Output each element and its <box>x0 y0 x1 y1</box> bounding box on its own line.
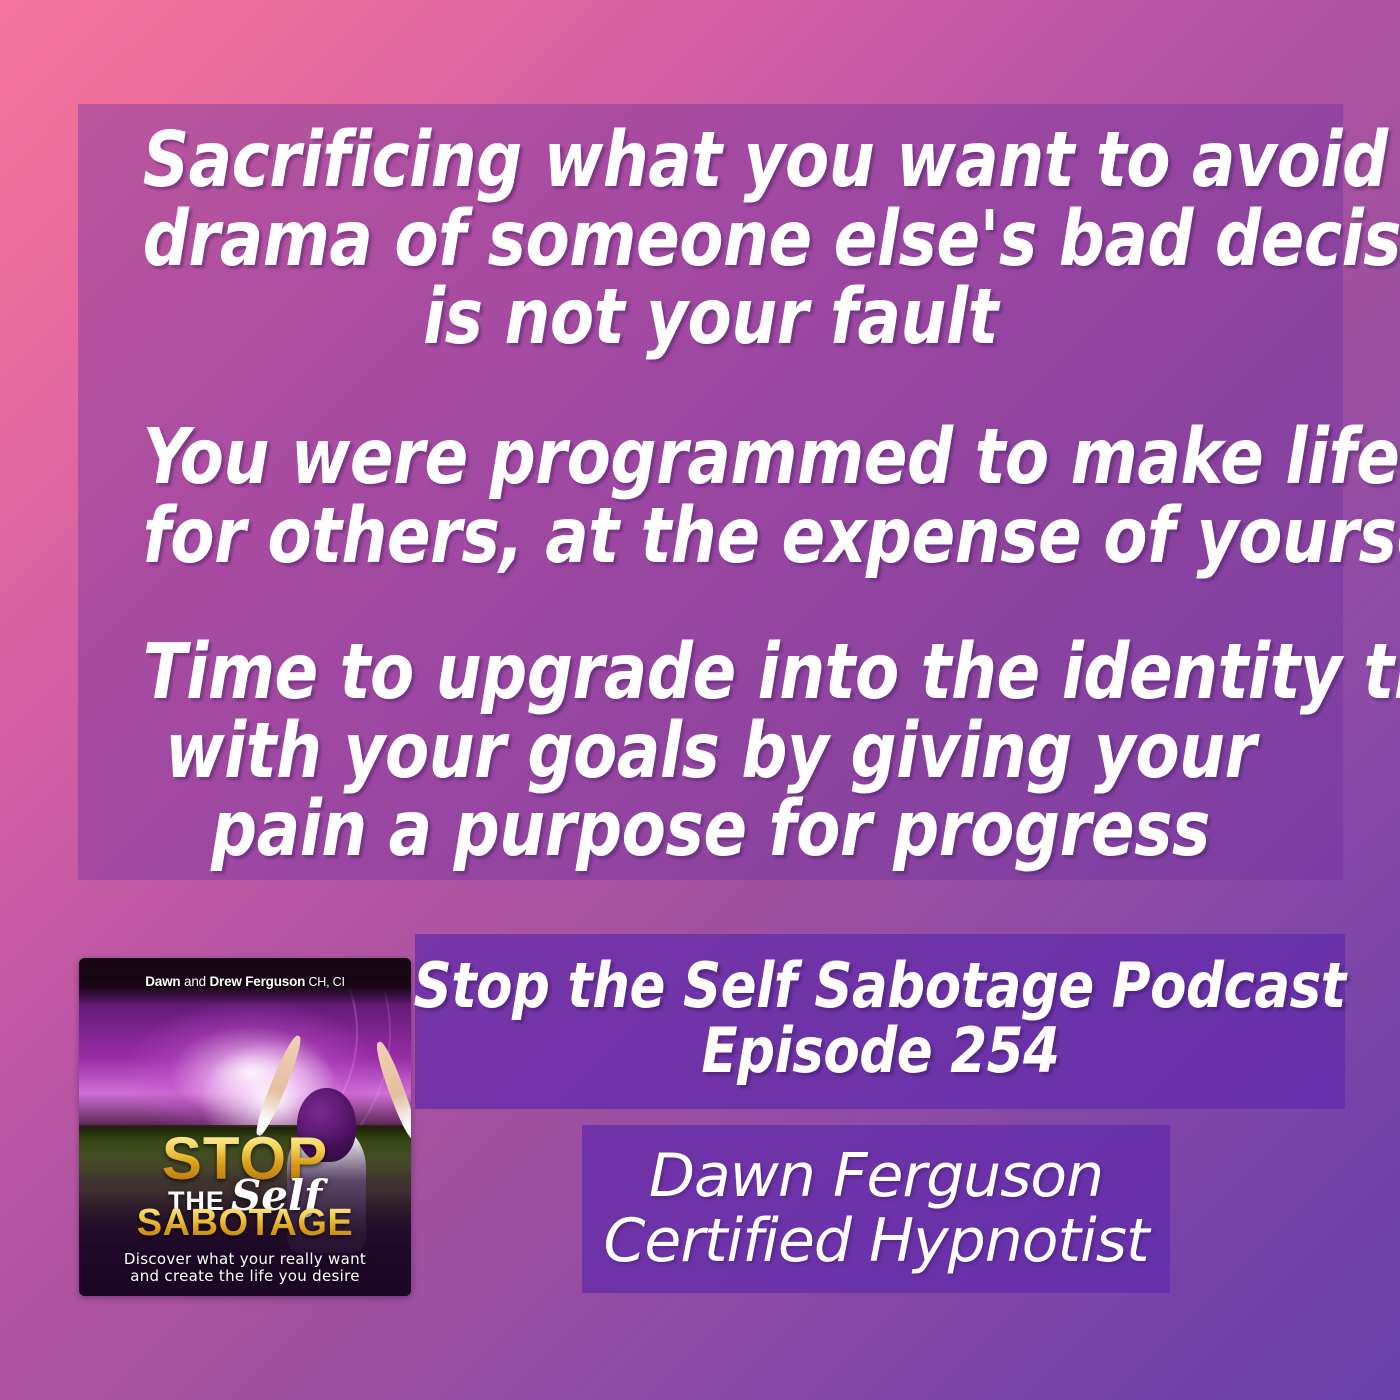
cover-host-name-2: Drew Ferguson <box>210 974 306 989</box>
cover-title-sabotage: SABOTAGE <box>89 1202 401 1245</box>
quote-stanza-2: You were programmed to make life easier … <box>100 419 1321 576</box>
cover-hosts-joiner: and <box>180 974 209 989</box>
cover-host-credentials: CH, CI <box>305 975 345 989</box>
podcast-episode: Episode 254 <box>701 1019 1059 1083</box>
cover-tagline: Discover what your really want and creat… <box>96 1251 395 1286</box>
podcast-title-panel: Stop the Self Sabotage Podcast Episode 2… <box>415 934 1345 1109</box>
cover-tagline-line-1: Discover what your really want <box>96 1251 395 1269</box>
cover-tagline-line-2: and create the life you desire <box>96 1268 395 1286</box>
cover-hosts-bar: Dawn and Drew Ferguson CH, CI <box>79 958 411 1005</box>
quote-line: drama of someone else's bad decisions, <box>143 201 1279 280</box>
quote-line: Sacrificing what you want to avoid the <box>143 122 1279 201</box>
cover-host-name-1: Dawn <box>145 974 180 989</box>
podcast-quote-card: Sacrificing what you want to avoid the d… <box>0 0 1400 1400</box>
quote-line: pain a purpose for progress <box>143 791 1279 870</box>
presenter-credential: Certified Hypnotist <box>604 1209 1149 1274</box>
quote-line: Time to upgrade into the identity that g… <box>143 634 1279 713</box>
presenter-panel: Dawn Ferguson Certified Hypnotist <box>582 1125 1170 1293</box>
quote-line: is not your fault <box>143 279 1279 358</box>
stanza-spacer <box>100 358 1321 420</box>
cover-hosts-text: Dawn and Drew Ferguson CH, CI <box>145 974 345 989</box>
quote-line: with your goals by giving your <box>143 713 1279 792</box>
quote-panel: Sacrificing what you want to avoid the d… <box>78 104 1343 880</box>
quote-stanza-3: Time to upgrade into the identity that g… <box>100 634 1321 870</box>
presenter-name: Dawn Ferguson <box>649 1144 1103 1209</box>
quote-stanza-1: Sacrificing what you want to avoid the d… <box>100 122 1321 358</box>
podcast-title: Stop the Self Sabotage Podcast <box>414 954 1346 1018</box>
stanza-spacer <box>100 576 1321 634</box>
quote-line: for others, at the expense of yourself <box>143 498 1279 577</box>
quote-line: You were programmed to make life easier <box>143 419 1279 498</box>
podcast-cover-art[interactable]: Dawn and Drew Ferguson CH, CI STOP THESe… <box>79 958 411 1296</box>
